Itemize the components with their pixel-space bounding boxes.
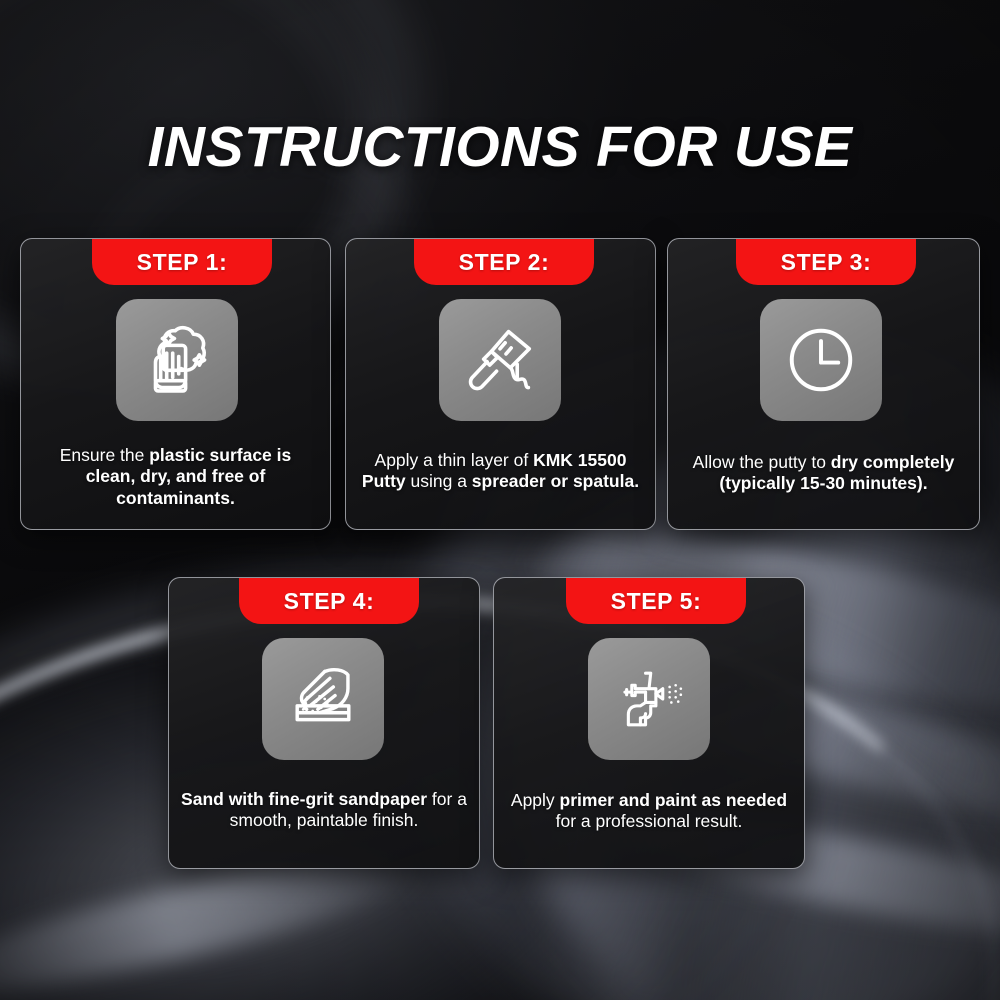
step-caption-5: Apply primer and paint as needed for a p…	[506, 790, 792, 833]
spray-gun-icon	[606, 656, 692, 742]
step-caption-3: Allow the putty to dry completely (typic…	[680, 452, 967, 495]
step-badge-4: STEP 4:	[239, 578, 419, 624]
step-caption-1: Ensure the plastic surface is clean, dry…	[33, 445, 318, 509]
icon-tile-1	[116, 299, 238, 421]
step-card-4: STEP 4:	[168, 577, 480, 869]
icon-tile-5	[588, 638, 710, 760]
hand-wiping-cloth-icon	[134, 317, 220, 403]
page-title: INSTRUCTIONS FOR USE	[0, 118, 1000, 178]
step-caption-2: Apply a thin layer of KMK 15500 Putty us…	[358, 450, 643, 493]
clock-icon	[778, 317, 864, 403]
step-badge-3: STEP 3:	[736, 239, 916, 285]
step-badge-1: STEP 1:	[92, 239, 272, 285]
step-card-1: STEP 1: Ensure the plastic surface is cl…	[20, 238, 331, 530]
step-badge-5: STEP 5:	[566, 578, 746, 624]
hand-sanding-surface-icon	[280, 656, 366, 742]
step-card-2: STEP 2: Apply a thin layer of KMK 15500 …	[345, 238, 656, 530]
step-card-3: STEP 3: Allow the putty to dry completel…	[667, 238, 980, 530]
step-badge-2: STEP 2:	[414, 239, 594, 285]
icon-tile-2	[439, 299, 561, 421]
instructions-poster: INSTRUCTIONS FOR USE STEP 1: Ensure the …	[0, 0, 1000, 1000]
icon-tile-3	[760, 299, 882, 421]
putty-knife-spatula-icon	[457, 317, 543, 403]
step-caption-4: Sand with fine-grit sandpaper for a smoo…	[181, 789, 467, 832]
step-card-5: STEP 5:	[493, 577, 805, 869]
icon-tile-4	[262, 638, 384, 760]
